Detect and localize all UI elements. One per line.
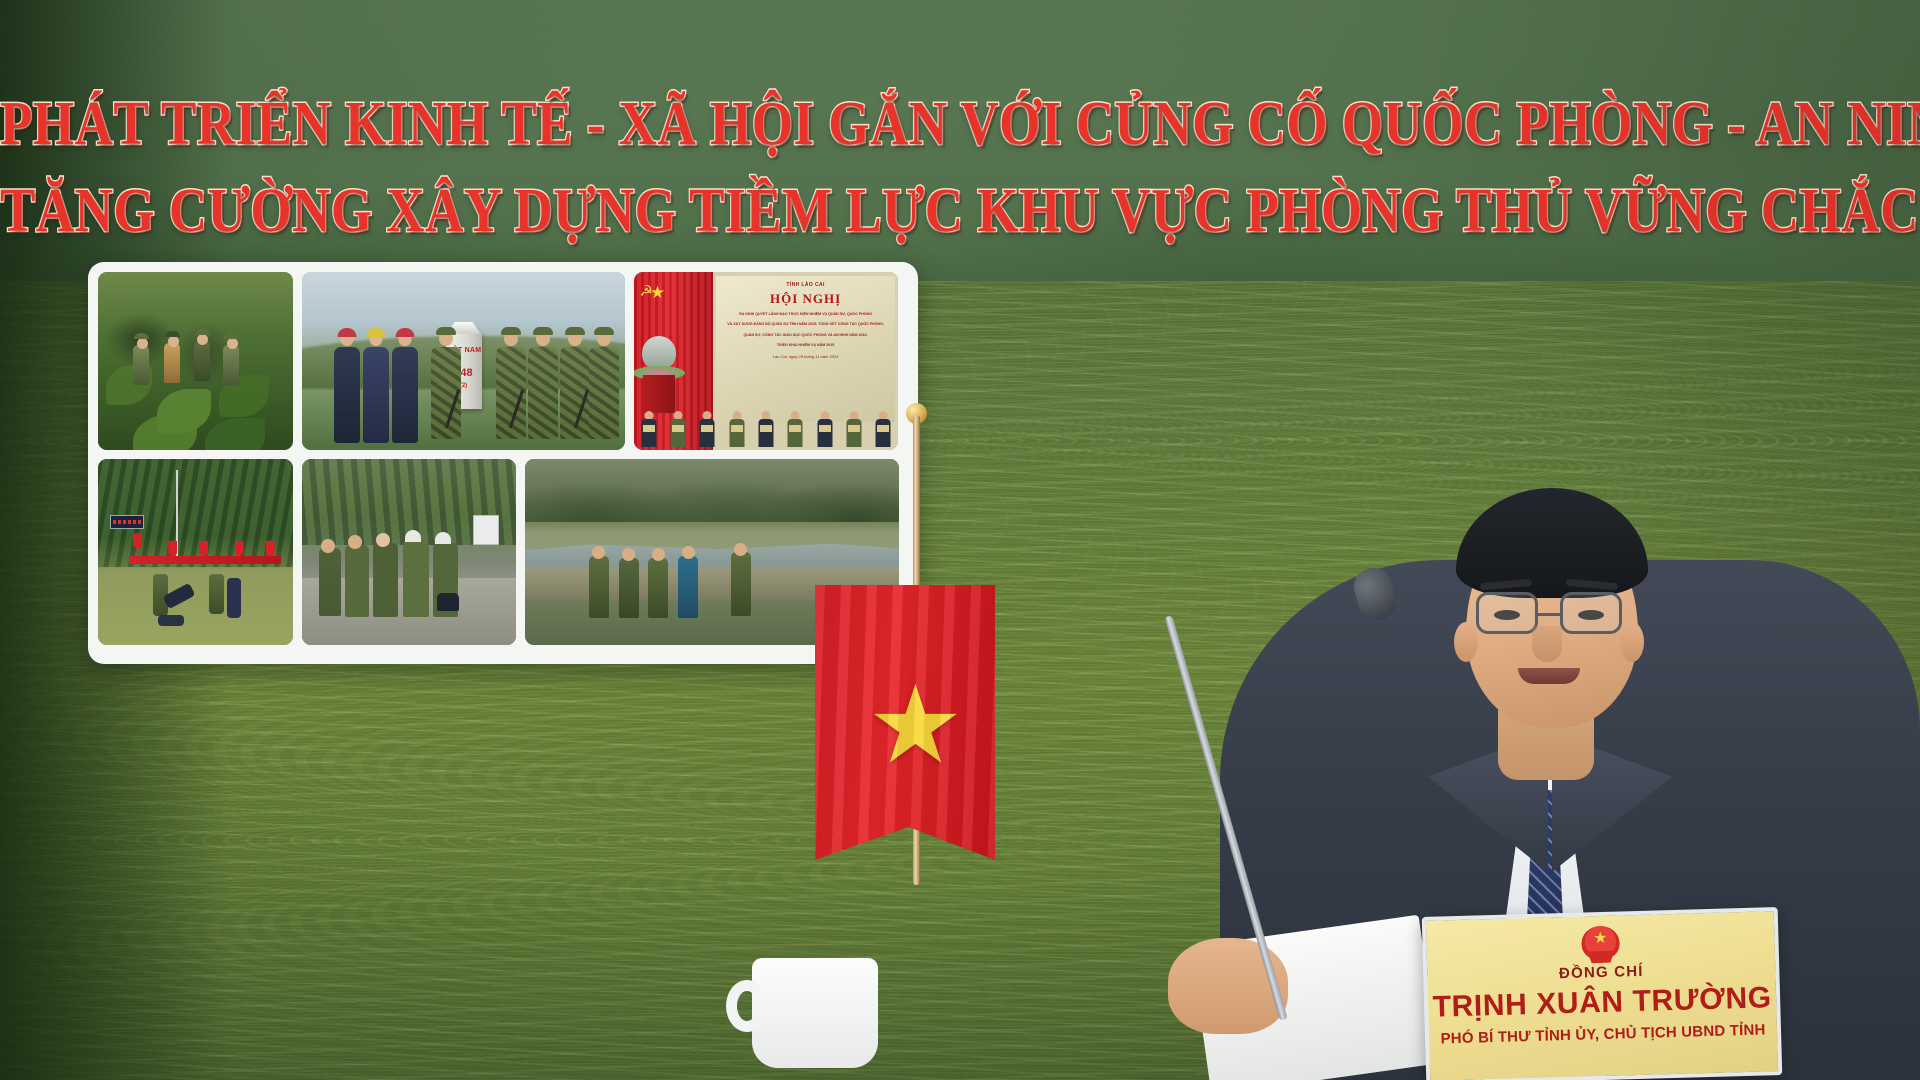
collage-row-bottom: Diễn tập võ thuật, bắt giữ đối tượng Cán… [98, 459, 908, 645]
banner-subtitle-2: VÀ XÂY DỰNG ĐẢNG BỘ QUÂN SỰ TỈNH NĂM 202… [720, 321, 892, 328]
speaker-nose [1532, 626, 1562, 662]
photo-border-marker: VIỆT NAM 148 (2) Tuần tra song phương tạ… [302, 272, 625, 450]
eyeglasses-lens-left [1476, 592, 1538, 634]
flag-star-icon: ★ [867, 671, 964, 779]
desk-nameplate: ĐỒNG CHÍ TRỊNH XUÂN TRƯỜNG PHÓ BÍ THƯ TỈ… [1422, 907, 1783, 1080]
banner-place-date: Lào Cai, ngày 29 tháng 11 năm 2024 [720, 354, 892, 359]
collage-row-top: Bộ đội biên phòng tuần tra cùng người dâ… [98, 272, 908, 450]
speaker-ear-left [1454, 622, 1478, 662]
photo-patrol-in-forest: Bộ đội biên phòng tuần tra cùng người dâ… [98, 272, 293, 450]
white-tea-cup [752, 958, 878, 1068]
banner-subtitle-4: TRIỂN KHAI NHIỆM VỤ NĂM 2025 [720, 342, 892, 349]
flag-cloth: ★ [815, 585, 995, 860]
cup-handle [726, 980, 768, 1032]
speaker-ear-right [1620, 622, 1644, 662]
banner-heading: HỘI NGHỊ [720, 291, 892, 307]
nameplate-role: PHÓ BÍ THƯ TỈNH ỦY, CHỦ TỊCH UBND TỈNH [1429, 1021, 1777, 1048]
photo-officers-field-inspection: Cán bộ kiểm tra thực địa trên tuyến đườn… [302, 459, 516, 645]
banner-subtitle-1: RA NGHỊ QUYẾT LÃNH ĐẠO THỰC HIỆN NHIỆM V… [720, 311, 892, 318]
banner-subtitle-3: QUÂN SỰ, CÔNG TÁC GIÁO DỤC QUỐC PHÒNG VÀ… [720, 332, 892, 339]
eyeglasses-lens-right [1560, 592, 1622, 634]
photo-collage: Bộ đội biên phòng tuần tra cùng người dâ… [88, 262, 918, 664]
banner-province: TỈNH LÀO CAI [720, 282, 892, 288]
ho-chi-minh-bust [642, 336, 676, 370]
photo-martial-arts-demonstration: Diễn tập võ thuật, bắt giữ đối tượng [98, 459, 293, 645]
conference-banner: TỈNH LÀO CAI HỘI NGHỊ RA NGHỊ QUYẾT LÃNH… [716, 276, 896, 422]
vietnam-table-flag: ★ [805, 415, 1035, 885]
nameplate-name: TRỊNH XUÂN TRƯỜNG [1428, 981, 1777, 1025]
star-icon: ★ [650, 284, 665, 301]
eyeglasses-bridge [1538, 613, 1560, 616]
speaker-mouth [1518, 668, 1580, 684]
national-emblem-icon [1581, 925, 1620, 960]
